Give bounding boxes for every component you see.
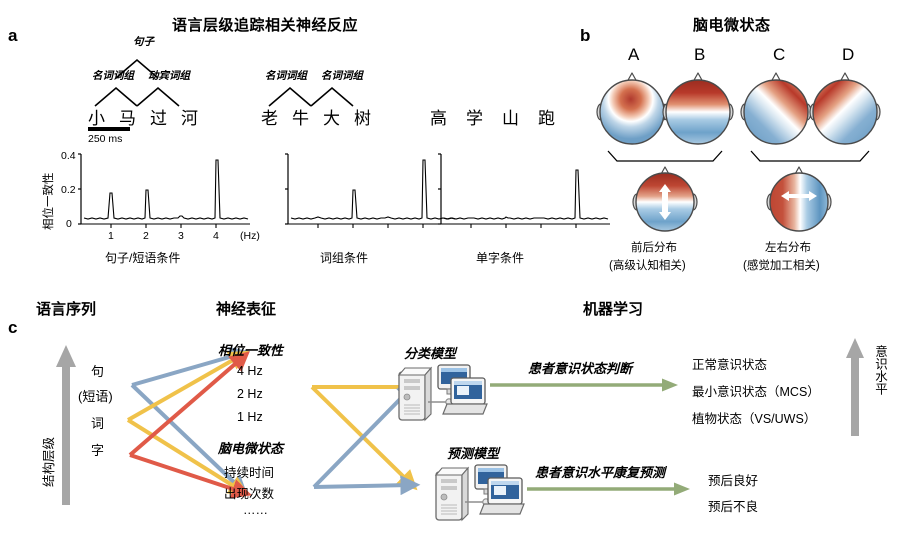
level-phrase: (短语)	[78, 386, 113, 405]
model-label-classifier: 分类模型	[404, 343, 456, 362]
ytick-2: 0	[66, 218, 72, 230]
tree1-mid-label-0: 名词词组	[92, 68, 134, 83]
tree1-char-2: 过	[150, 104, 167, 129]
tree2-char-1: 牛	[292, 104, 309, 129]
condition-label-1: 词组条件	[320, 249, 368, 266]
ytick-0: 0.4	[61, 150, 76, 162]
xtick-0: 1	[108, 230, 114, 242]
microstate-label-D: D	[842, 45, 854, 65]
brace-right	[751, 151, 869, 161]
x-unit-label: (Hz)	[240, 230, 260, 242]
classification-arrow-text: 患者意识状态判断	[528, 358, 632, 377]
xtick-1: 2	[143, 230, 149, 242]
tree1-char-1: 马	[119, 104, 136, 129]
panel-b-title: 脑电微状态	[693, 14, 771, 35]
condition-label-0: 句子/短语条件	[105, 249, 180, 266]
predictor-model-icon	[432, 462, 522, 528]
microstate-item-2: ……	[243, 503, 268, 517]
outcome-mcs: 最小意识状态（MCS）	[692, 381, 820, 400]
arrow-blue-to-predictor	[314, 485, 410, 487]
phase-item-1: 2 Hz	[237, 387, 263, 401]
phase-item-0: 4 Hz	[237, 364, 263, 378]
outcome-good-prognosis: 预后良好	[708, 470, 758, 489]
spectrum-plot-1	[78, 152, 253, 230]
panel-a-title: 语言层级追踪相关神经反应	[172, 14, 358, 35]
tree1-mid-label-1: 动宾词组	[148, 68, 190, 83]
tree1-char-3: 河	[181, 104, 198, 129]
panel-b-caption-right-line2: (感觉加工相关)	[743, 257, 820, 273]
level-character: 字	[91, 440, 104, 459]
tree2-char-2: 大	[323, 104, 340, 129]
hierarchy-axis-label: 结构层级	[38, 437, 57, 487]
topomap-C	[741, 73, 811, 144]
outcome-normal-consciousness: 正常意识状态	[692, 354, 767, 373]
prediction-arrow-text: 患者意识水平康复预测	[535, 462, 665, 481]
topomap-B	[663, 73, 733, 144]
tree3-char-1: 学	[466, 104, 483, 129]
microstate-label-B: B	[694, 45, 705, 65]
panel-c-letter: c	[8, 318, 17, 338]
classification-green-arrow-icon	[490, 378, 680, 392]
heading-language-sequence: 语言序列	[36, 298, 96, 319]
microstate-item-0: 持续时间	[224, 462, 274, 481]
tree2-mid-label-0: 名词词组	[265, 68, 307, 83]
topomaps-group	[575, 70, 900, 240]
microstate-item-1: 出现次数	[224, 483, 274, 502]
panel-a-letter: a	[8, 26, 17, 46]
heading-neural-representation: 神经表征	[216, 298, 276, 319]
ytick-1: 0.2	[61, 184, 76, 196]
microstate-label-C: C	[773, 45, 785, 65]
phase-item-2: 1 Hz	[237, 410, 263, 424]
panel-b-caption-left-line1: 前后分布	[631, 239, 677, 255]
panel-a-ylabel: 相位一致性	[40, 173, 56, 231]
scalebar-line	[88, 127, 130, 131]
outcome-poor-prognosis: 预后不良	[708, 496, 758, 515]
topomap-A	[597, 73, 667, 144]
tree3-char-2: 山	[502, 104, 519, 129]
outcome-vs-uws: 植物状态（VS/UWS）	[692, 408, 816, 427]
panel-b-caption-right-line1: 左右分布	[765, 239, 811, 255]
tree1-top-label: 句子	[133, 34, 154, 49]
xtick-2: 3	[178, 230, 184, 242]
level-sentence: 句	[91, 361, 104, 380]
tree1-char-0: 小	[88, 104, 105, 129]
panel-b-caption-left-line2: (高级认知相关)	[609, 257, 686, 273]
topomap-summary-left-right	[767, 167, 831, 231]
tree2-char-0: 老	[261, 104, 278, 129]
tree2-char-3: 树	[354, 104, 371, 129]
panel-b-letter: b	[580, 26, 590, 46]
scalebar-label: 250 ms	[88, 133, 122, 145]
level-word: 词	[91, 413, 104, 432]
consciousness-axis-label: 意识水平	[871, 345, 890, 395]
prediction-green-arrow-icon	[527, 482, 692, 496]
condition-label-2: 单字条件	[476, 249, 524, 266]
tree3-char-0: 高	[430, 104, 447, 129]
microstate-title: 脑电微状态	[218, 438, 283, 457]
topomap-D	[810, 73, 880, 144]
tree3-char-3: 跑	[538, 104, 555, 129]
tree2-mid-label-1: 名词词组	[321, 68, 363, 83]
spectrum-plot-2	[285, 152, 460, 230]
xtick-3: 4	[213, 230, 219, 242]
microstate-label-A: A	[628, 45, 639, 65]
brace-left	[608, 151, 722, 161]
classifier-model-icon	[395, 362, 485, 428]
topomap-summary-anterior-posterior	[633, 167, 697, 231]
phase-coherence-title: 相位一致性	[218, 340, 283, 359]
consciousness-level-arrow-icon	[845, 338, 867, 438]
hierarchy-arrow-icon	[55, 345, 79, 507]
heading-machine-learning: 机器学习	[583, 298, 643, 319]
model-label-predictor: 预测模型	[447, 443, 499, 462]
